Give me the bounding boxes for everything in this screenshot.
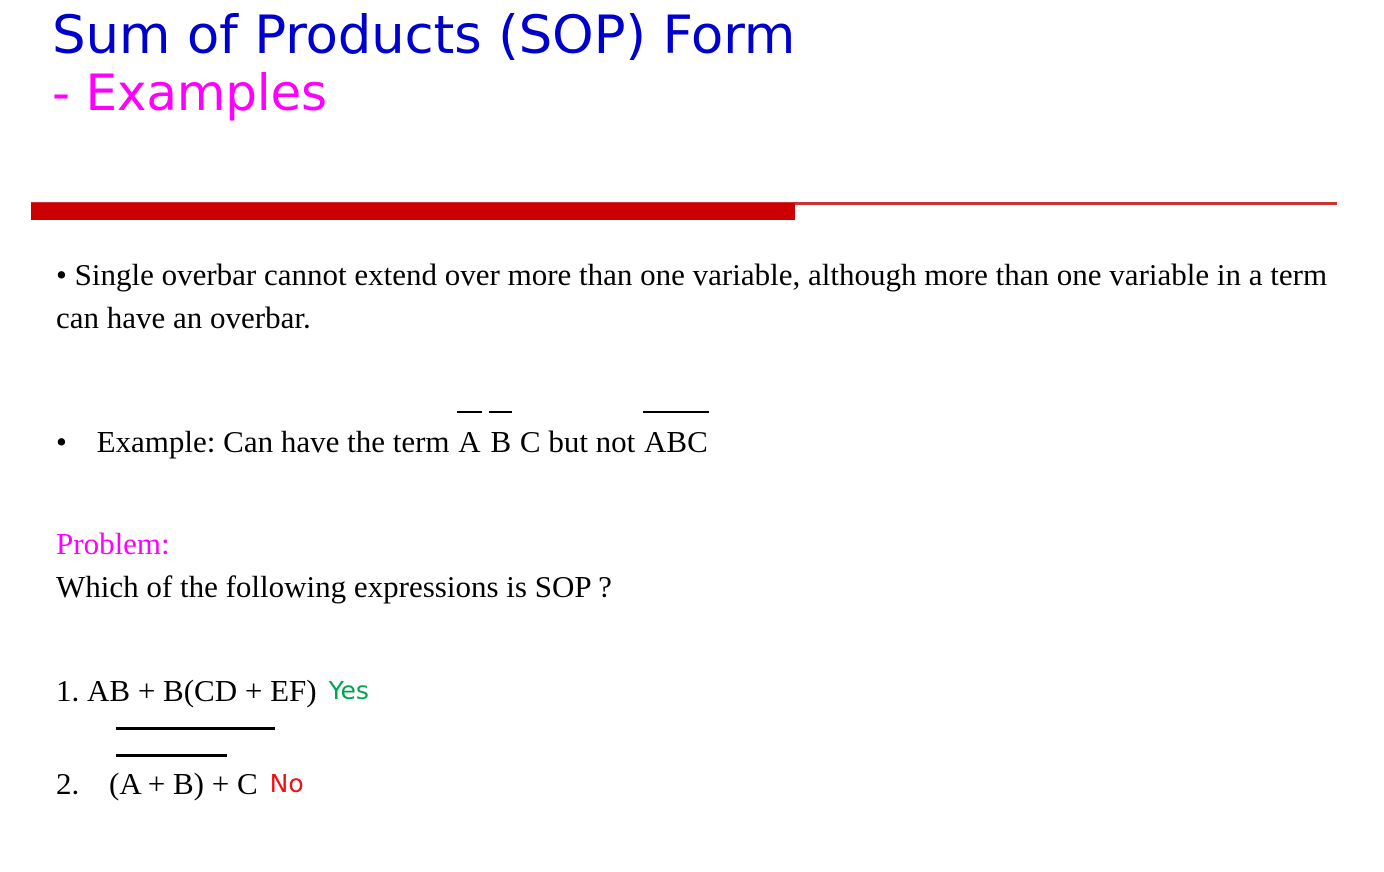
term-b-overbarred: B: [489, 420, 512, 463]
item-expression: (A + B) + C: [109, 764, 258, 804]
example-middle-text: but not: [541, 424, 643, 459]
overbar-outer-rule: [116, 727, 275, 730]
slide-body: • Single overbar cannot extend over more…: [0, 0, 1384, 872]
overbar-inner-rule: [116, 754, 227, 757]
intro-bullet-text: • Single overbar cannot extend over more…: [56, 253, 1342, 339]
slide-canvas: Sum of Products (SOP) Form - Examples • …: [0, 0, 1384, 872]
example-bullet-marker: •: [56, 424, 67, 459]
problem-label: Problem:: [56, 522, 170, 565]
item-number: 1.: [56, 671, 79, 711]
example-lead-text: Example: Can have the term: [97, 424, 458, 459]
term-abc-overbarred: ABC: [643, 420, 709, 463]
term-a-overbarred: A: [457, 420, 481, 463]
item-number: 2.: [56, 764, 79, 804]
example-bullet-line: • Example: Can have the term A B C but n…: [56, 420, 1056, 463]
item-verdict: No: [270, 769, 304, 798]
item-expression: AB + B(CD + EF): [87, 671, 317, 711]
list-item: 2. (A + B) + CNo: [56, 764, 304, 804]
problem-question: Which of the following expressions is SO…: [56, 565, 612, 608]
term-c-plain: C: [520, 424, 541, 459]
list-item: 1. AB + B(CD + EF)Yes: [56, 671, 369, 711]
item-verdict: Yes: [329, 676, 369, 705]
